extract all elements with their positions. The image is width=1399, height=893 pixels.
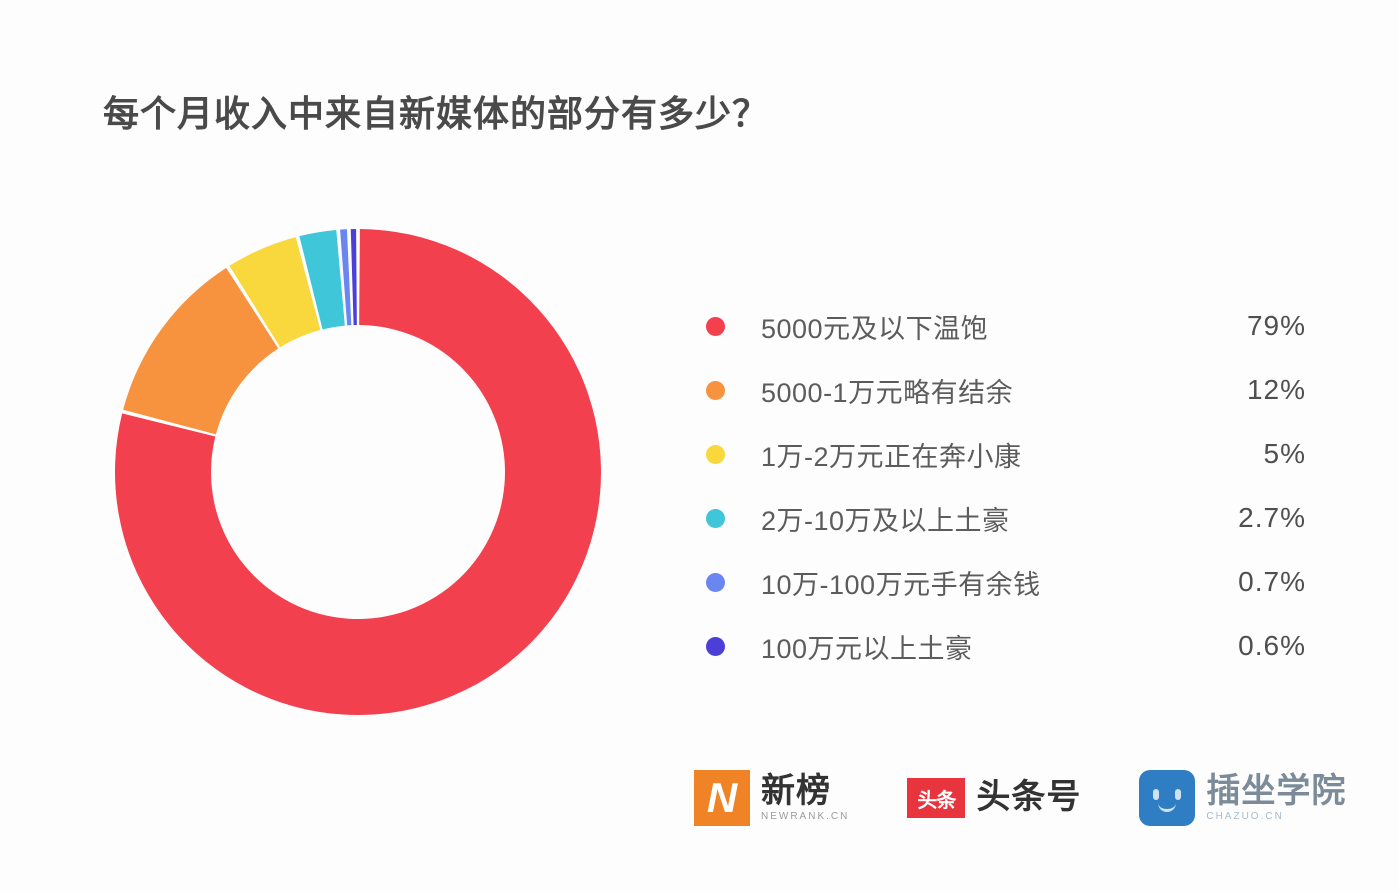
- logo-newrank: N 新榜 NEWRANK.CN: [694, 770, 849, 826]
- toutiaohao-text: 头条号: [976, 780, 1081, 816]
- newrank-name: 新榜: [761, 774, 849, 810]
- legend-color-dot-icon: [706, 509, 725, 528]
- donut-chart-svg: [108, 222, 608, 722]
- legend-item-value: 5%: [1176, 438, 1306, 470]
- legend-item-value: 12%: [1176, 374, 1306, 406]
- legend-color-dot-icon: [706, 381, 725, 400]
- donut-slice[interactable]: [351, 229, 357, 325]
- legend-item[interactable]: 1万-2万元正在奔小康5%: [706, 422, 1306, 486]
- newrank-sub: NEWRANK.CN: [761, 811, 849, 822]
- legend-item-label: 1万-2万元正在奔小康: [761, 435, 1176, 474]
- face-eye-right-icon: [1175, 789, 1181, 800]
- toutiaohao-mark-letter: 头条: [917, 784, 955, 813]
- legend-item[interactable]: 100万元以上土豪0.6%: [706, 614, 1306, 678]
- page-title: 每个月收入中来自新媒体的部分有多少？: [103, 85, 769, 137]
- legend-item[interactable]: 5000-1万元略有结余12%: [706, 358, 1306, 422]
- logo-toutiaohao: 头条 头条号: [907, 778, 1081, 818]
- legend-color-dot-icon: [706, 637, 725, 656]
- toutiaohao-name: 头条号: [976, 780, 1081, 816]
- chazuo-face-icon: [1139, 770, 1195, 826]
- legend-color-dot-icon: [706, 317, 725, 336]
- footer-logos: N 新榜 NEWRANK.CN 头条 头条号 插坐学院 CHAZUO.CN: [694, 770, 1346, 826]
- donut-slice-group: [115, 229, 601, 715]
- legend-color-dot-icon: [706, 573, 725, 592]
- newrank-mark-letter: N: [707, 777, 737, 819]
- legend-item-label: 100万元以上土豪: [761, 627, 1176, 666]
- newrank-mark-icon: N: [694, 770, 750, 826]
- chazuo-sub: CHAZUO.CN: [1206, 811, 1346, 822]
- donut-chart: [108, 222, 608, 722]
- toutiaohao-mark-icon: 头条: [907, 778, 965, 818]
- legend-item-label: 10万-100万元手有余钱: [761, 563, 1176, 602]
- newrank-text: 新榜 NEWRANK.CN: [761, 774, 849, 823]
- chazuo-text: 插坐学院 CHAZUO.CN: [1206, 774, 1346, 823]
- legend-item[interactable]: 5000元及以下温饱79%: [706, 294, 1306, 358]
- legend-item-label: 5000-1万元略有结余: [761, 371, 1176, 410]
- legend-item[interactable]: 2万-10万及以上土豪2.7%: [706, 486, 1306, 550]
- legend-item-value: 0.6%: [1176, 630, 1306, 662]
- chart-legend: 5000元及以下温饱79%5000-1万元略有结余12%1万-2万元正在奔小康5…: [706, 294, 1306, 678]
- legend-item-value: 2.7%: [1176, 502, 1306, 534]
- legend-item-value: 0.7%: [1176, 566, 1306, 598]
- legend-item-label: 5000元及以下温饱: [761, 307, 1176, 346]
- legend-color-dot-icon: [706, 445, 725, 464]
- legend-item-label: 2万-10万及以上土豪: [761, 499, 1176, 538]
- logo-chazuo: 插坐学院 CHAZUO.CN: [1139, 770, 1346, 826]
- legend-item-value: 79%: [1176, 310, 1306, 342]
- face-eye-left-icon: [1153, 789, 1159, 800]
- legend-item[interactable]: 10万-100万元手有余钱0.7%: [706, 550, 1306, 614]
- chazuo-name: 插坐学院: [1206, 774, 1346, 810]
- face-mouth-icon: [1158, 802, 1176, 812]
